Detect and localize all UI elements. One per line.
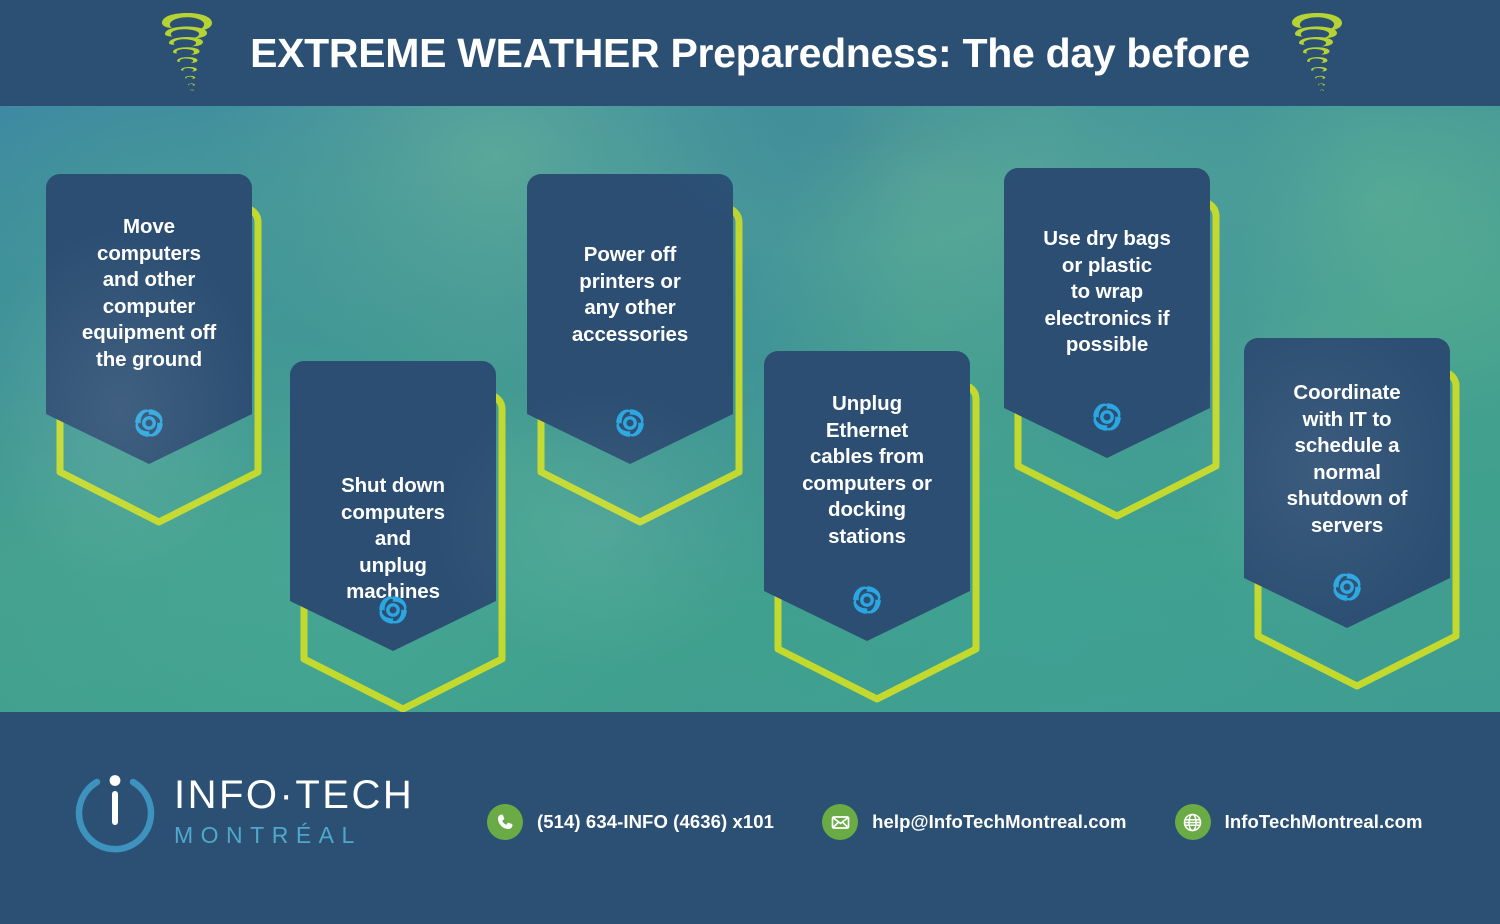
tip-card[interactable]: Power off printers or any other accessor… [527,174,733,504]
tip-text: Unplug Ethernet cables from computers or… [776,391,958,550]
tip-text: Power off printers or any other accessor… [539,242,721,348]
tip-card[interactable]: Unplug Ethernet cables from computers or… [764,351,970,681]
tornado-icon [1284,12,1346,94]
tip-card[interactable]: Shut down computers and unplug machines [290,361,496,691]
phone-text: (514) 634-INFO (4636) x101 [537,811,774,833]
cyclone-icon [376,593,410,627]
logo-main-text: INFO·TECH [174,775,414,815]
cyclone-icon [1330,570,1364,604]
infographic-poster: EXTREME WEATHER Preparedness: The day be… [0,0,1500,924]
contact-phone[interactable]: (514) 634-INFO (4636) x101 [487,804,774,840]
tip-card[interactable]: Use dry bags or plastic to wrap electron… [1004,168,1210,498]
tornado-icon [154,12,216,94]
header-bar: EXTREME WEATHER Preparedness: The day be… [0,0,1500,106]
tip-text: Coordinate with IT to schedule a normal … [1256,380,1438,539]
cyclone-icon [850,583,884,617]
contact-website[interactable]: InfoTechMontreal.com [1175,804,1423,840]
email-text: help@InfoTechMontreal.com [872,811,1127,833]
tip-card[interactable]: Move computers and other computer equipm… [46,174,252,504]
company-logo: INFO·TECH MONTRÉAL [72,768,414,854]
logo-wordmark: INFO·TECH MONTRÉAL [174,775,414,847]
main-canvas: Move computers and other computer equipm… [0,106,1500,712]
logo-sub-text: MONTRÉAL [174,824,414,847]
page-title: EXTREME WEATHER Preparedness: The day be… [250,33,1250,74]
tip-text: Move computers and other computer equipm… [58,214,240,373]
tip-text: Shut down computers and unplug machines [302,473,484,606]
power-i-icon [72,768,158,854]
envelope-icon [822,804,858,840]
contact-row: (514) 634-INFO (4636) x101 help@InfoTech… [487,804,1423,840]
cyclone-icon [132,406,166,440]
cyclone-icon [613,406,647,440]
tip-text: Use dry bags or plastic to wrap electron… [1016,226,1198,359]
website-text: InfoTechMontreal.com [1225,811,1423,833]
cyclone-icon [1090,400,1124,434]
phone-icon [487,804,523,840]
contact-email[interactable]: help@InfoTechMontreal.com [822,804,1127,840]
tip-card[interactable]: Coordinate with IT to schedule a normal … [1244,338,1450,668]
globe-icon [1175,804,1211,840]
